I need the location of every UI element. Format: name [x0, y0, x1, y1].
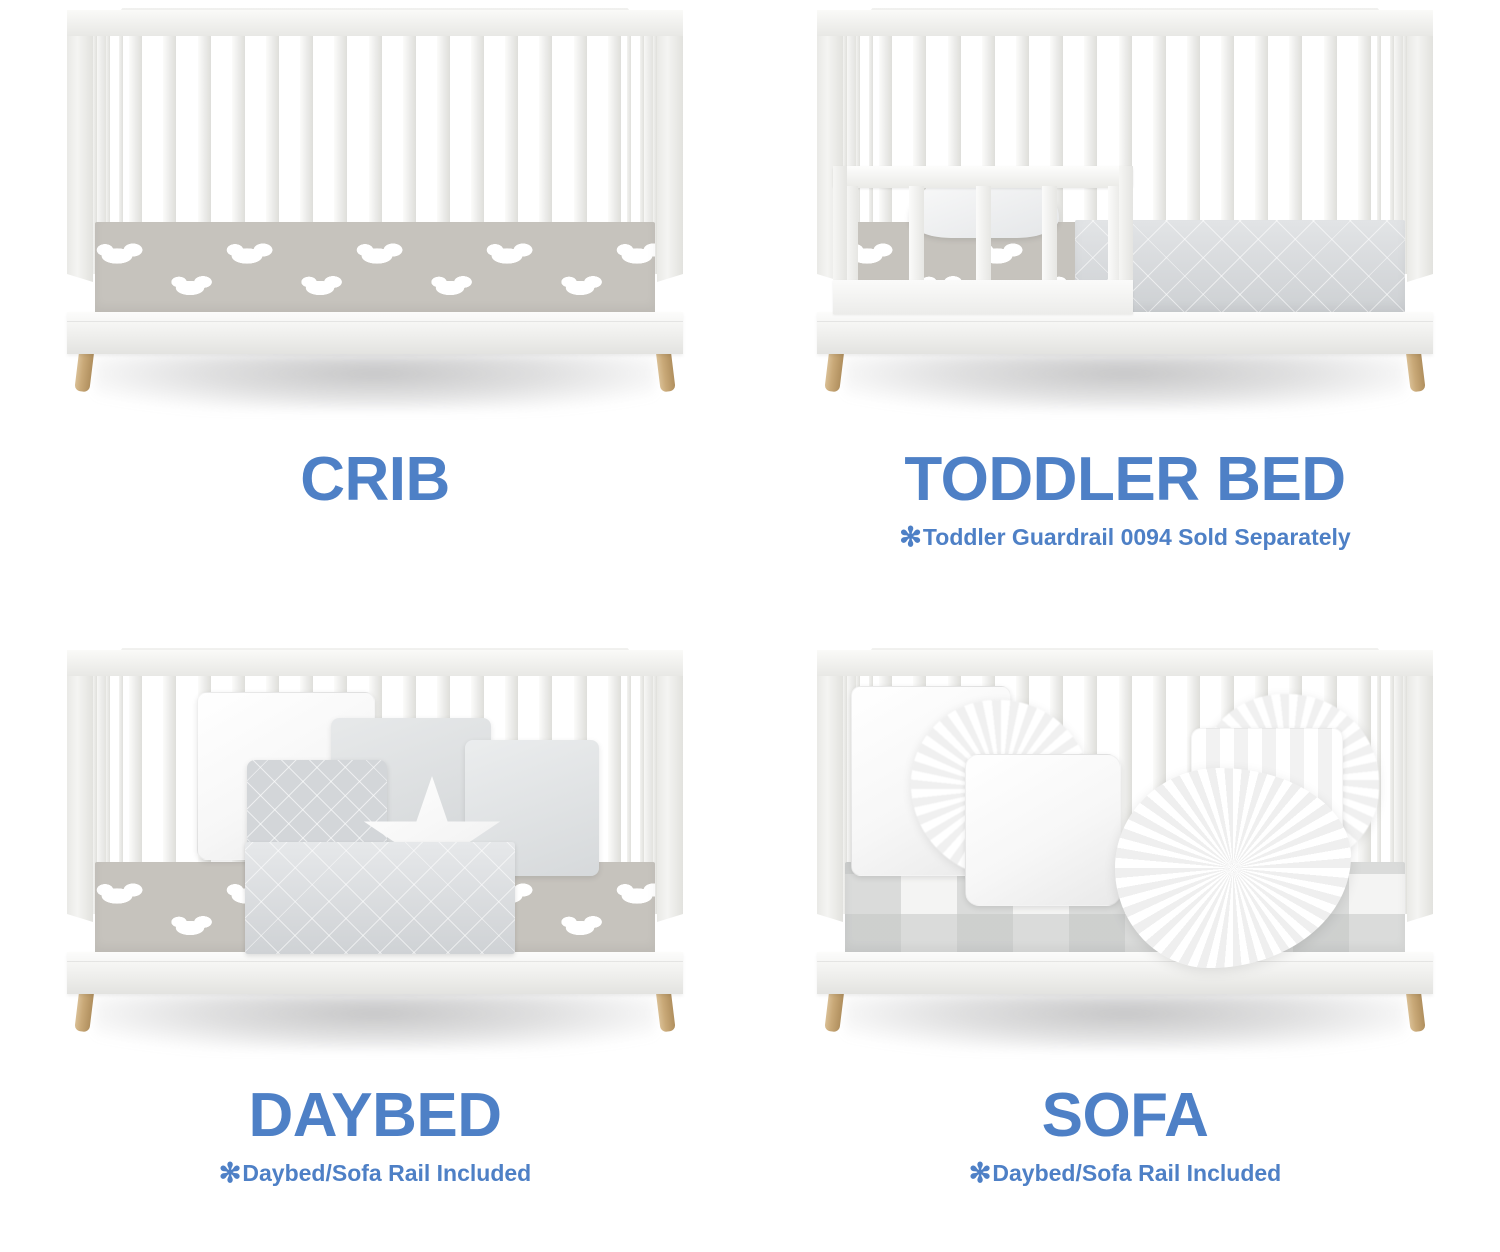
sofa-caption: SOFA ✻Daybed/Sofa Rail Included — [750, 1084, 1500, 1191]
asterisk-icon: ✻ — [899, 522, 922, 552]
corner-post-right — [657, 654, 683, 922]
base-board — [67, 952, 683, 994]
daybed-caption: DAYBED ✻Daybed/Sofa Rail Included — [0, 1084, 750, 1191]
toddler-guardrail — [833, 166, 1133, 314]
corner-post-left — [67, 14, 93, 282]
top-rail — [817, 650, 1433, 676]
crib-caption: CRIB — [0, 448, 750, 555]
daybed-illustration — [25, 640, 725, 1080]
daybed-note-text: Daybed/Sofa Rail Included — [242, 1160, 531, 1186]
sofa-note-text: Daybed/Sofa Rail Included — [992, 1160, 1281, 1186]
corner-post-left — [817, 654, 843, 922]
corner-post-right — [1407, 14, 1433, 282]
panel-crib: CRIB — [0, 0, 750, 626]
top-rail — [67, 650, 683, 676]
corner-post-left — [67, 654, 93, 922]
crib-illustration — [25, 0, 725, 440]
toddler-bed-note: ✻Toddler Guardrail 0094 Sold Separately — [750, 521, 1500, 555]
base-board — [817, 312, 1433, 354]
panel-toddler-bed: TODDLER BED ✻Toddler Guardrail 0094 Sold… — [750, 0, 1500, 626]
base-board — [817, 952, 1433, 994]
base-board — [67, 312, 683, 354]
guardrail-slat — [976, 186, 991, 282]
page-title-daybed: DAYBED — [0, 1084, 750, 1147]
daybed-frame — [49, 648, 701, 1028]
sofa-illustration — [775, 640, 1475, 1080]
toddler-bed-note-text: Toddler Guardrail 0094 Sold Separately — [923, 524, 1351, 550]
guardrail-slat — [1042, 186, 1057, 282]
corner-post-right — [1407, 654, 1433, 922]
folded-grey-quilt — [245, 842, 515, 954]
page-title-sofa: SOFA — [750, 1084, 1500, 1147]
sofa-frame — [799, 648, 1451, 1028]
daybed-note: ✻Daybed/Sofa Rail Included — [0, 1157, 750, 1191]
page-title-crib: CRIB — [0, 448, 750, 511]
top-rail — [817, 10, 1433, 36]
top-rail — [67, 10, 683, 36]
guardrail-slat — [909, 186, 924, 282]
page-title-toddler-bed: TODDLER BED — [750, 448, 1500, 511]
guardrail-top-rail — [833, 166, 1133, 188]
convertible-crib-infographic: CRIB — [0, 0, 1500, 1252]
toddler-bed-illustration — [775, 0, 1475, 440]
corner-post-right — [657, 14, 683, 282]
sofa-note: ✻Daybed/Sofa Rail Included — [750, 1157, 1500, 1191]
toddler-bed-frame — [799, 8, 1451, 388]
guardrail-slats — [843, 186, 1123, 282]
white-square-pillow — [965, 754, 1121, 906]
panel-daybed: DAYBED ✻Daybed/Sofa Rail Included — [0, 626, 750, 1252]
asterisk-icon: ✻ — [969, 1158, 992, 1188]
crib-frame — [49, 8, 701, 388]
panel-sofa: SOFA ✻Daybed/Sofa Rail Included — [750, 626, 1500, 1252]
asterisk-icon: ✻ — [219, 1158, 242, 1188]
mattress-cloud-sheet — [95, 222, 655, 314]
guardrail-bottom-rail — [833, 280, 1133, 314]
toddler-bed-caption: TODDLER BED ✻Toddler Guardrail 0094 Sold… — [750, 448, 1500, 555]
